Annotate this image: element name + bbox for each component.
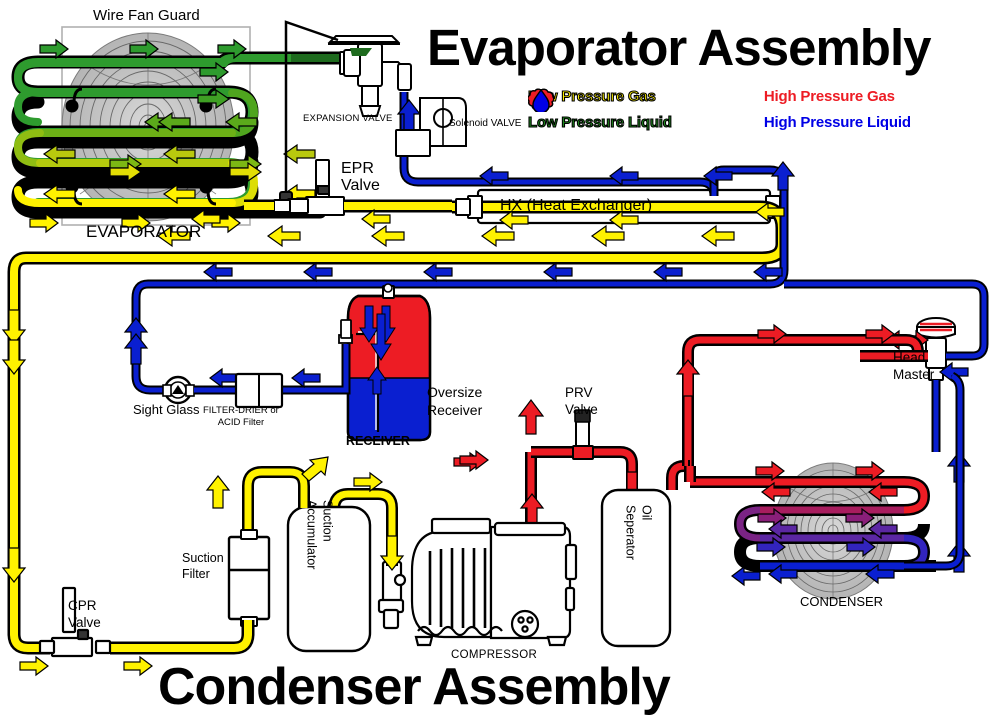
legend-label-low-pressure-liquid: Low Pressure Liquid [528,114,672,131]
label-condenser: CONDENSER [800,595,883,609]
filter-drier [236,374,282,407]
legend-item-high-pressure-liquid: High Pressure Liquid [764,114,990,131]
label-cpr-valve: CPR Valve [68,598,101,632]
suction-return-arrows [158,226,734,246]
label-epr-valve: EPR Valve [341,161,380,195]
high-pressure-liquid-icon [528,88,554,112]
legend: Low Pressure Gas Low Pressure Liquid Hig… [528,88,990,131]
label-compressor: COMPRESSOR [451,649,537,661]
label-suction-accumulator: Suction Accumulator [303,500,334,569]
label-solenoid-valve: Solenoid VALVE [449,119,521,130]
receiver-inlet-pipe [338,344,346,390]
label-oversize-receiver: Oversize Receiver [427,383,482,419]
page-title-bottom: Condenser Assembly [158,660,670,715]
label-sight-glass: Sight Glass [133,403,199,417]
label-filter-drier: FILTER-DRIER or ACID Filter [203,405,279,429]
label-expansion-valve: EXPANSION VALVE [303,114,393,124]
label-prv-valve: PRV Valve [565,385,598,419]
label-receiver: RECEIVER [346,435,410,448]
suction-filter [229,530,269,626]
legend-item-low-pressure-liquid: Low Pressure Liquid [528,114,764,131]
legend-item-low-pressure-gas: Low Pressure Gas [528,88,764,105]
label-wire-fan-guard: Wire Fan Guard [93,8,200,24]
label-heat-exchanger: HX (Heat Exchanger) [500,198,652,215]
legend-label-high-pressure-liquid: High Pressure Liquid [764,114,911,131]
epr-valve [274,160,344,215]
label-head-master: Head Master [893,350,934,384]
legend-item-high-pressure-gas: High Pressure Gas [764,88,990,105]
label-suction-filter: Suction Filter [182,551,224,582]
sight-glass [163,377,194,403]
compressor [379,519,576,645]
page-title-top: Evaporator Assembly [427,21,930,75]
refrigeration-diagram: Evaporator Assembly Condenser Assembly L… [0,0,1000,719]
label-evaporator: EVAPORATOR [86,223,201,241]
label-oil-separator: Oil Seperator [622,505,653,560]
legend-label-high-pressure-gas: High Pressure Gas [764,88,895,105]
